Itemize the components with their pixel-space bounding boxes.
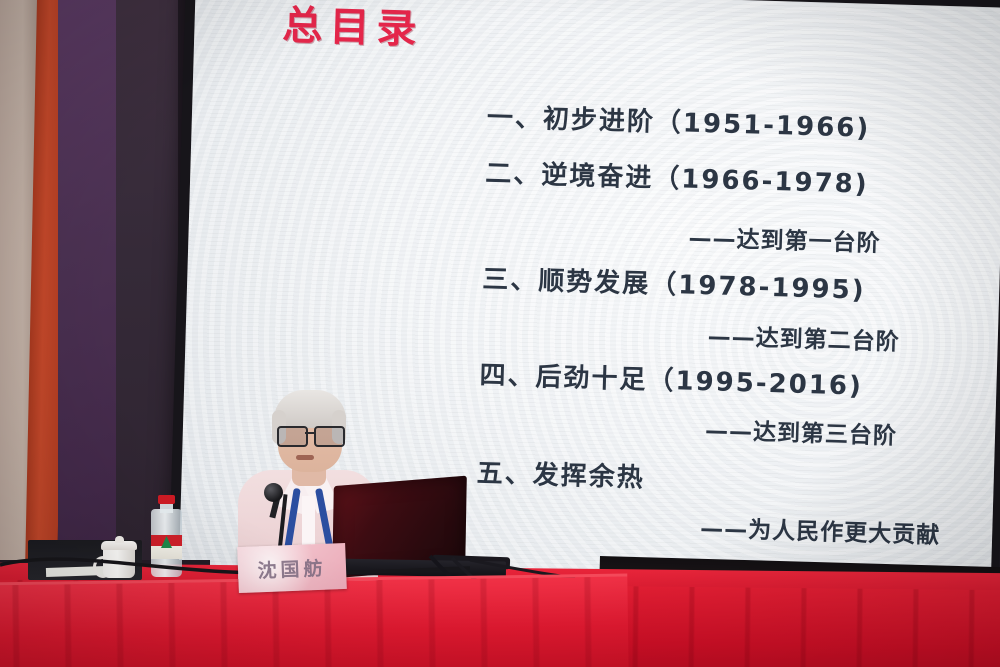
slide-line-7: ——达到第三台阶: [705, 411, 898, 451]
slide-line-2: 二、逆境奋进（1966-1978): [485, 153, 869, 201]
cup-knob: [115, 536, 124, 543]
slide-line-5: ——达到第二台阶: [707, 317, 900, 357]
presentation-photo: 总目录 一、初步进阶（1951-1966) 二、逆境奋进（1966-1978) …: [0, 0, 1000, 667]
slide-title: 总目录: [282, 0, 425, 55]
speaker-mouth: [296, 455, 314, 460]
slide-line-9: ——为人民作更大贡献: [700, 509, 941, 550]
slide-line-4: 三、顺势发展（1978-1995): [482, 259, 866, 307]
slide-line-6: 四、后劲十足（1995-2016): [479, 355, 863, 403]
slide-line-1: 一、初步进阶（1951-1966): [487, 97, 871, 145]
lidded-teacup: [99, 536, 139, 578]
bottle-cap: [158, 495, 175, 504]
cup-body: [103, 546, 135, 578]
water-bottle: [151, 495, 182, 577]
nameplate: 沈国舫: [237, 543, 347, 593]
eyeglasses-icon: [276, 426, 344, 444]
nameplate-text: 沈国舫: [257, 553, 327, 583]
slide-line-3: ——达到第一台阶: [688, 219, 881, 259]
eyeglass-lens-right: [314, 426, 345, 447]
eyeglass-lens-left: [277, 426, 308, 447]
microphone-head-icon: [264, 483, 283, 502]
slide-line-8: 五、发挥余热: [476, 453, 645, 495]
eyeglass-bridge: [305, 432, 315, 434]
